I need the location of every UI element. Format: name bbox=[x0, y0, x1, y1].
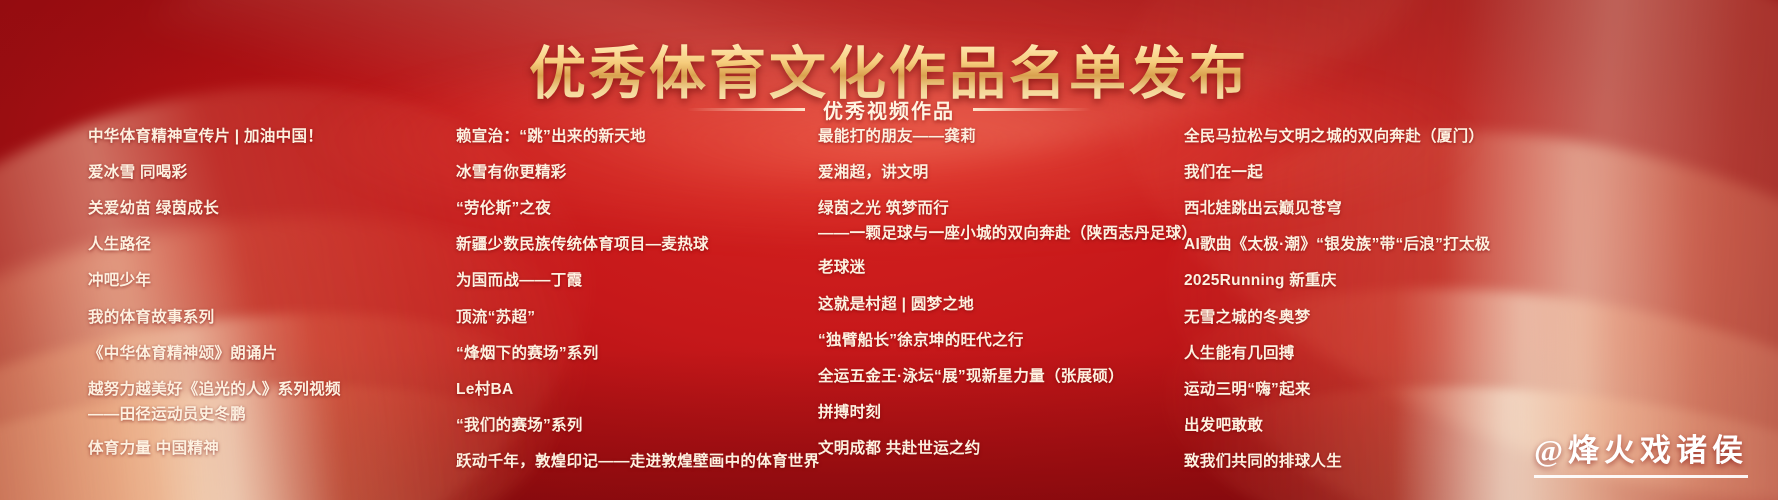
award-entry: 绿茵之光 筑梦而行——一颗足球与一座小城的双向奔赴（陕西志丹足球） bbox=[818, 196, 1176, 246]
award-entry: 西北娃跳出云巅见苍穹 bbox=[1184, 196, 1491, 221]
award-entry-title: 《中华体育精神颂》朗诵片 bbox=[88, 345, 278, 362]
award-entry-title: 拼搏时刻 bbox=[818, 404, 881, 421]
award-entry: 文明成都 共赴世运之约 bbox=[818, 436, 1176, 461]
award-entry: 致我们共同的排球人生 bbox=[1184, 449, 1491, 474]
award-entry-title: 2025Running 新重庆 bbox=[1184, 272, 1337, 289]
award-entry: 出发吧敢敢 bbox=[1184, 413, 1491, 438]
award-entry: 老球迷 bbox=[818, 255, 1176, 280]
award-entry-title: 我们在一起 bbox=[1184, 164, 1263, 181]
award-entry-title: 这就是村超 | 圆梦之地 bbox=[818, 296, 974, 313]
award-entry: 人生能有几回搏 bbox=[1184, 341, 1491, 366]
award-entry-title: 致我们共同的排球人生 bbox=[1184, 453, 1342, 470]
award-entry: 爱冰雪 同喝彩 bbox=[88, 160, 448, 185]
award-entry: 关爱幼苗 绿茵成长 bbox=[88, 196, 448, 221]
award-entry-title: “劳伦斯”之夜 bbox=[456, 200, 551, 217]
award-entry-title: 绿茵之光 筑梦而行 bbox=[818, 200, 949, 217]
award-entry-title: 全运五金王·泳坛“展”现新星力量（张展硕） bbox=[818, 368, 1124, 385]
award-entry-title: 西北娃跳出云巅见苍穹 bbox=[1184, 200, 1342, 217]
subtitle-text: 优秀视频作品 bbox=[823, 95, 955, 124]
award-entry: 人生路径 bbox=[88, 232, 448, 257]
award-entry-title: Le村BA bbox=[456, 381, 513, 398]
award-entry: 全民马拉松与文明之城的双向奔赴（厦门） bbox=[1184, 124, 1491, 149]
award-entry: 新疆少数民族传统体育项目—麦热球 bbox=[456, 232, 818, 257]
award-entry-title: “烽烟下的赛场”系列 bbox=[456, 345, 599, 362]
award-entry-subtitle: ——一颗足球与一座小城的双向奔赴（陕西志丹足球） bbox=[818, 221, 1176, 246]
award-entry-title: 最能打的朋友——龚莉 bbox=[818, 128, 976, 145]
subtitle-block: 优秀视频作品 bbox=[0, 95, 1778, 124]
award-entry: 体育力量 中国精神 bbox=[88, 436, 448, 461]
award-entry-title: 新疆少数民族传统体育项目—麦热球 bbox=[456, 236, 709, 253]
award-entry-title: 中华体育精神宣传片 | 加油中国！ bbox=[88, 128, 323, 145]
award-entry: Le村BA bbox=[456, 377, 818, 402]
award-entry-title: 全民马拉松与文明之城的双向奔赴（厦门） bbox=[1184, 128, 1484, 145]
award-entry-title: 文明成都 共赴世运之约 bbox=[818, 440, 981, 457]
subtitle-rule-left bbox=[687, 108, 805, 111]
award-entry: 为国而战——丁霞 bbox=[456, 268, 818, 293]
award-entry-title: 我的体育故事系列 bbox=[88, 309, 214, 326]
award-entry-title: 冰雪有你更精彩 bbox=[456, 164, 567, 181]
watermark: @烽火戏诸侯 bbox=[1534, 425, 1748, 478]
award-entry: 我们在一起 bbox=[1184, 160, 1491, 185]
award-entry-title: 人生能有几回搏 bbox=[1184, 345, 1295, 362]
award-entry: 运动三明“嗨”起来 bbox=[1184, 377, 1491, 402]
award-entry-subtitle: ——田径运动员史冬鹏 bbox=[88, 402, 448, 427]
award-entry-title: 爱湘超，讲文明 bbox=[818, 164, 929, 181]
award-entry-title: 运动三明“嗨”起来 bbox=[1184, 381, 1311, 398]
award-entry-title: 关爱幼苗 绿茵成长 bbox=[88, 200, 219, 217]
award-entry: 2025Running 新重庆 bbox=[1184, 268, 1491, 293]
award-entry: 我的体育故事系列 bbox=[88, 305, 448, 330]
award-column-1: 中华体育精神宣传片 | 加油中国！爱冰雪 同喝彩关爱幼苗 绿茵成长人生路径冲吧少… bbox=[0, 124, 448, 392]
award-entry: 越努力越美好《追光的人》系列视频——田径运动员史冬鹏 bbox=[88, 377, 448, 427]
award-entry-title: “我们的赛场”系列 bbox=[456, 417, 583, 434]
award-column-2: 赖宣治：“跳”出来的新天地冰雪有你更精彩“劳伦斯”之夜新疆少数民族传统体育项目—… bbox=[448, 124, 818, 392]
award-entry-title: 为国而战——丁霞 bbox=[456, 272, 582, 289]
award-entry-title: 人生路径 bbox=[88, 236, 151, 253]
award-entry: 中华体育精神宣传片 | 加油中国！ bbox=[88, 124, 448, 149]
award-entry: 《中华体育精神颂》朗诵片 bbox=[88, 341, 448, 366]
award-entry: 赖宣治：“跳”出来的新天地 bbox=[456, 124, 818, 149]
award-entry-title: 越努力越美好《追光的人》系列视频 bbox=[88, 381, 341, 398]
award-entry-title: 赖宣治：“跳”出来的新天地 bbox=[456, 128, 646, 145]
award-entry: 顶流“苏超” bbox=[456, 305, 818, 330]
award-column-4: 全民马拉松与文明之城的双向奔赴（厦门）我们在一起西北娃跳出云巅见苍穹AI歌曲《太… bbox=[1176, 124, 1491, 392]
award-entry-title: 出发吧敢敢 bbox=[1184, 417, 1263, 434]
poster-canvas: 优秀体育文化作品名单发布 优秀视频作品 中华体育精神宣传片 | 加油中国！爱冰雪… bbox=[0, 0, 1778, 500]
award-column-3: 最能打的朋友——龚莉爱湘超，讲文明绿茵之光 筑梦而行——一颗足球与一座小城的双向… bbox=[818, 124, 1176, 392]
award-entry-title: 无雪之城的冬奥梦 bbox=[1184, 309, 1310, 326]
award-entry: 冲吧少年 bbox=[88, 268, 448, 293]
award-list: 中华体育精神宣传片 | 加油中国！爱冰雪 同喝彩关爱幼苗 绿茵成长人生路径冲吧少… bbox=[0, 124, 1778, 392]
award-entry-title: AI歌曲《太极·潮》“银发族”带“后浪”打太极 bbox=[1184, 236, 1491, 253]
award-entry: “我们的赛场”系列 bbox=[456, 413, 818, 438]
award-entry: 跃动千年，敦煌印记——走进敦煌壁画中的体育世界 bbox=[456, 449, 818, 474]
award-entry: 无雪之城的冬奥梦 bbox=[1184, 305, 1491, 330]
award-entry-title: 跃动千年，敦煌印记——走进敦煌壁画中的体育世界 bbox=[456, 453, 819, 470]
award-entry: 拼搏时刻 bbox=[818, 400, 1176, 425]
award-entry: “烽烟下的赛场”系列 bbox=[456, 341, 818, 366]
award-entry: 爱湘超，讲文明 bbox=[818, 160, 1176, 185]
award-entry-title: 冲吧少年 bbox=[88, 272, 151, 289]
award-entry: 这就是村超 | 圆梦之地 bbox=[818, 292, 1176, 317]
subtitle-rule-right bbox=[973, 108, 1091, 111]
award-entry: 全运五金王·泳坛“展”现新星力量（张展硕） bbox=[818, 364, 1176, 389]
award-entry: AI歌曲《太极·潮》“银发族”带“后浪”打太极 bbox=[1184, 232, 1491, 257]
award-entry: “劳伦斯”之夜 bbox=[456, 196, 818, 221]
award-entry-title: 体育力量 中国精神 bbox=[88, 440, 219, 457]
award-entry: 冰雪有你更精彩 bbox=[456, 160, 818, 185]
award-entry-title: “独臂船长”徐京坤的旺代之行 bbox=[818, 332, 1024, 349]
award-entry-title: 爱冰雪 同喝彩 bbox=[88, 164, 187, 181]
award-entry-title: 顶流“苏超” bbox=[456, 309, 535, 326]
award-entry-title: 老球迷 bbox=[818, 259, 865, 276]
award-entry: “独臂船长”徐京坤的旺代之行 bbox=[818, 328, 1176, 353]
award-entry: 最能打的朋友——龚莉 bbox=[818, 124, 1176, 149]
